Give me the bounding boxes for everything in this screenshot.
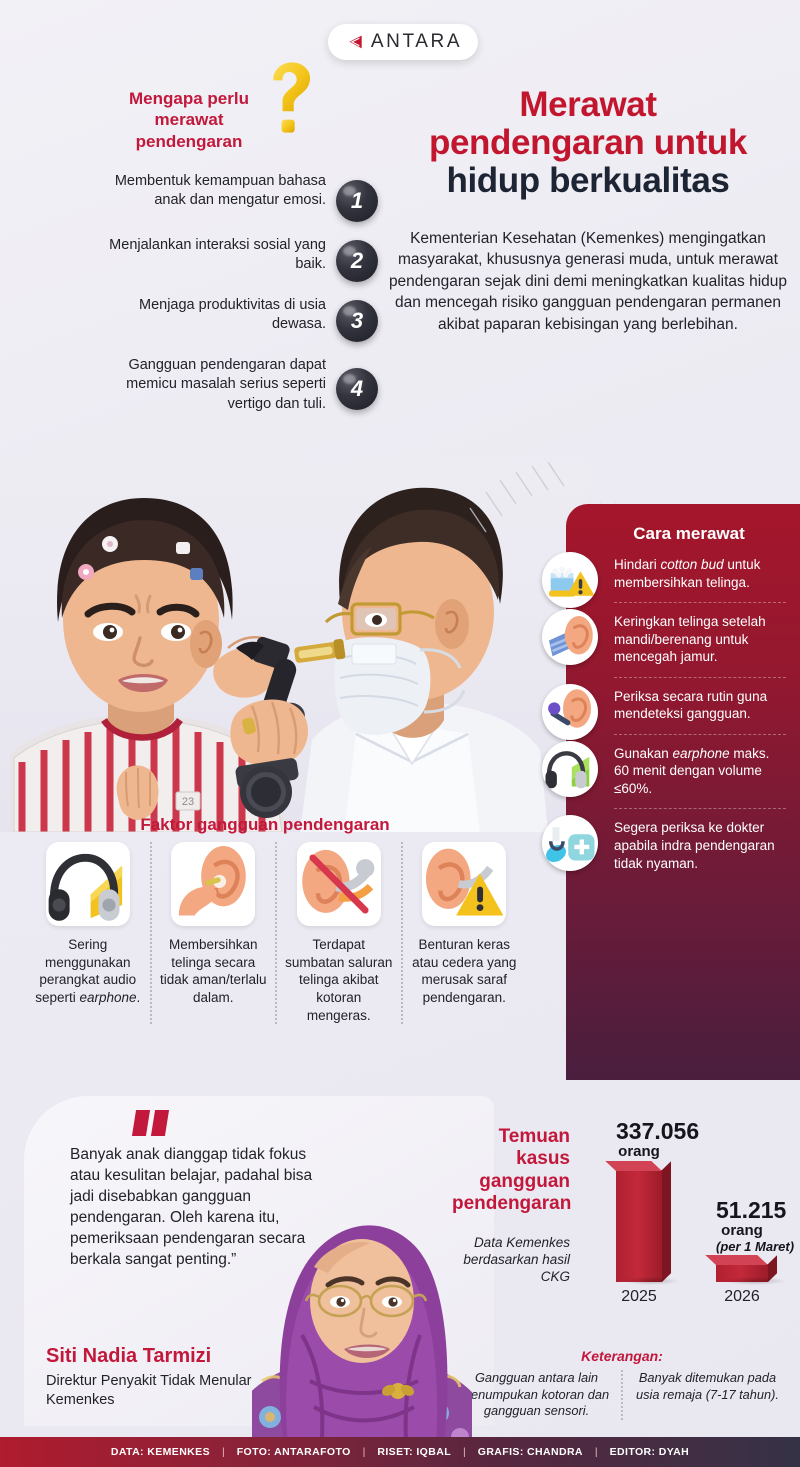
- keterangan-notes: Gangguan antara lain penumpukan kotoran …: [452, 1370, 792, 1420]
- care-item-text: Segera periksa ke dokter apabila indra p…: [614, 819, 786, 872]
- care-item: Gunakan earphone maks. 60 menit dengan v…: [614, 745, 786, 810]
- chart-bar-unit: orang: [616, 1143, 662, 1160]
- chart-bar-value: 51.215: [716, 1198, 768, 1222]
- ear-checkup-icon: [542, 684, 598, 740]
- keterangan-title: Keterangan:: [452, 1348, 792, 1364]
- headphone-icon: [46, 842, 130, 926]
- footer-credits: DATA: KEMENKES|FOTO: ANTARAFOTO|RISET: I…: [0, 1437, 800, 1467]
- headphone-volume-icon: [542, 741, 598, 797]
- why-step-text: Menjaga produktivitas di usia dewasa.: [96, 296, 326, 335]
- care-panel-title: Cara merawat: [592, 524, 786, 544]
- footer-separator: |: [222, 1446, 225, 1458]
- chart-bar-unit: orang: [716, 1222, 768, 1239]
- chart-bar-value: 337.056: [616, 1119, 662, 1143]
- antara-logo[interactable]: ANTARA: [328, 24, 478, 60]
- factor-item-text: Terdapat sumbatan saluran telinga akibat…: [285, 936, 393, 1024]
- factor-item-text: Benturan keras atau cedera yang merusak …: [411, 936, 519, 1007]
- keterangan-note: Gangguan antara lain penumpukan kotoran …: [452, 1370, 623, 1420]
- care-item: Segera periksa ke dokter apabila indra p…: [614, 819, 786, 883]
- footer-credit: RISET: IQBAL: [377, 1446, 451, 1458]
- factor-item: Sering menggunakan perangkat audio seper…: [26, 842, 152, 1024]
- factors-list: Sering menggunakan perangkat audio seper…: [26, 842, 526, 1024]
- title-line-2: pendengaran untuk: [388, 124, 788, 162]
- chart-bar-annotation: (per 1 Maret): [716, 1239, 768, 1254]
- care-item-text: Periksa secara rutin guna mendeteksi gan…: [614, 688, 786, 723]
- care-item-text: Gunakan earphone maks. 60 menit dengan v…: [614, 745, 786, 798]
- why-step: Menjaga produktivitas di usia dewasa.3: [48, 296, 378, 342]
- antara-triangle-icon: [344, 32, 364, 52]
- factor-item-text: Membersihkan telinga secara tidak aman/t…: [160, 936, 268, 1007]
- why-step-text: Gangguan pendengaran dapat memicu masala…: [96, 356, 326, 414]
- ear-towel-icon: [542, 609, 598, 665]
- doctor-examining-ear-illustration: 23: [0, 462, 585, 832]
- why-step-number: 4: [336, 368, 378, 410]
- svg-text:23: 23: [182, 796, 194, 808]
- footer-credit: GRAFIS: CHANDRA: [478, 1446, 583, 1458]
- why-step: Gangguan pendengaran dapat memicu masala…: [48, 356, 378, 414]
- ear-cleaning-hand-icon: [171, 842, 255, 926]
- chart-bar: [716, 1264, 768, 1282]
- factor-item: Membersihkan telinga secara tidak aman/t…: [152, 842, 278, 1024]
- cotton-bud-warning-icon: [542, 552, 598, 608]
- title-line-1: Merawat: [388, 86, 788, 124]
- footer-separator: |: [363, 1446, 366, 1458]
- care-item-text: Hindari cotton bud untuk membersihkan te…: [614, 556, 786, 591]
- antara-logo-text: ANTARA: [371, 31, 462, 53]
- footer-credit: DATA: KEMENKES: [111, 1446, 210, 1458]
- footer-separator: |: [463, 1446, 466, 1458]
- doctor-medical-icon: [542, 815, 598, 871]
- care-panel: Cara merawat Hindari cotton bud untuk me…: [566, 504, 800, 1080]
- chart-bar-category: 2026: [716, 1288, 768, 1306]
- chart-bar-group: 51.215orang(per 1 Maret)2026: [716, 1198, 768, 1306]
- care-list: Hindari cotton bud untuk membersihkan te…: [614, 556, 786, 883]
- care-item: Hindari cotton bud untuk membersihkan te…: [614, 556, 786, 603]
- cases-chart: Temuan kasus gangguan pendengaran Data K…: [452, 1122, 792, 1342]
- intro-paragraph: Kementerian Kesehatan (Kemenkes) menging…: [386, 228, 790, 335]
- chart-bar: [616, 1170, 662, 1282]
- why-heading: Mengapa perlu merawat pendengaran: [104, 88, 274, 152]
- factor-item-text: Sering menggunakan perangkat audio seper…: [34, 936, 142, 1007]
- quote-author-role: Direktur Penyakit Tidak Menular Kemenkes: [46, 1372, 286, 1410]
- infographic-root: ANTARA Mengapa perlu merawat pendengaran…: [0, 0, 800, 1467]
- care-item: Periksa secara rutin guna mendeteksi gan…: [614, 688, 786, 735]
- why-step-number: 1: [336, 180, 378, 222]
- page-title: Merawat pendengaran untuk hidup berkuali…: [388, 86, 788, 199]
- chart-bar-category: 2025: [616, 1288, 662, 1306]
- chart-bar-group: 337.056orang2025: [616, 1119, 662, 1306]
- why-step: Menjalankan interaksi sosial yang baik.2: [48, 236, 378, 282]
- care-item: Keringkan telinga setelah mandi/berenang…: [614, 613, 786, 678]
- why-step: Membentuk kemampuan bahasa anak dan meng…: [48, 172, 378, 222]
- factor-item: Terdapat sumbatan saluran telinga akibat…: [277, 842, 403, 1024]
- why-step-text: Menjalankan interaksi sosial yang baik.: [96, 236, 326, 275]
- why-steps-list: Membentuk kemampuan bahasa anak dan meng…: [48, 172, 378, 428]
- care-item-text: Keringkan telinga setelah mandi/berenang…: [614, 613, 786, 666]
- factors-title: Faktor gangguan pendengaran: [0, 815, 530, 835]
- why-step-number: 3: [336, 300, 378, 342]
- factor-item: Benturan keras atau cedera yang merusak …: [403, 842, 527, 1024]
- footer-credit: EDITOR: DYAH: [610, 1446, 689, 1458]
- quote-mark-icon: [134, 1110, 167, 1136]
- why-step-text: Membentuk kemampuan bahasa anak dan meng…: [96, 172, 326, 211]
- quote-author-name: Siti Nadia Tarmizi: [46, 1345, 211, 1368]
- keterangan-note: Banyak ditemukan pada usia remaja (7-17 …: [623, 1370, 792, 1420]
- why-step-number: 2: [336, 240, 378, 282]
- blocked-ear-canal-icon: [297, 842, 381, 926]
- chart-bars: 337.056orang202551.215orang(per 1 Maret)…: [580, 1122, 792, 1332]
- ear-injury-warning-icon: [422, 842, 506, 926]
- footer-credit: FOTO: ANTARAFOTO: [237, 1446, 351, 1458]
- footer-separator: |: [595, 1446, 598, 1458]
- title-line-3: hidup berkualitas: [388, 162, 788, 200]
